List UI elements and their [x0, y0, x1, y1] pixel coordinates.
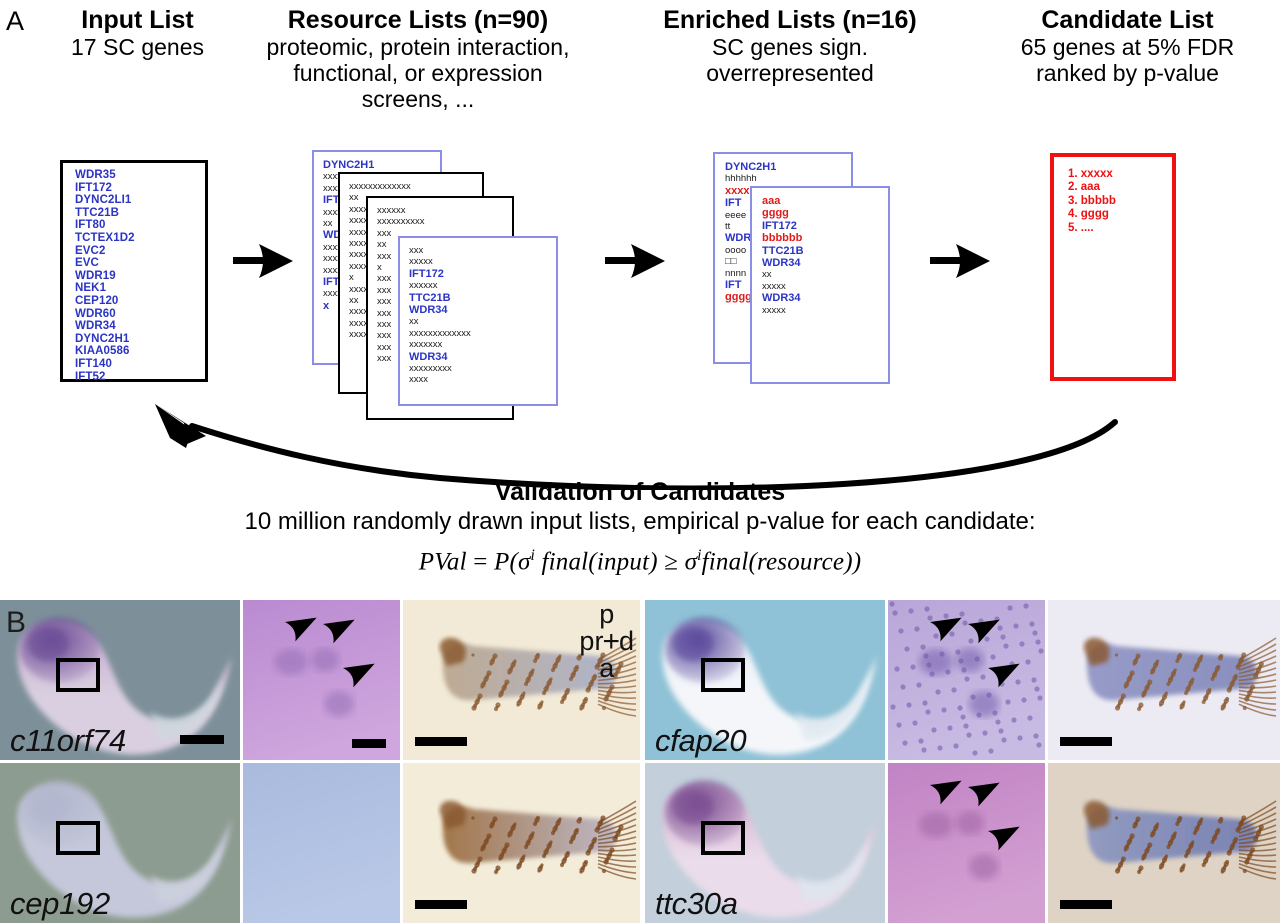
- feedback-arrow-icon: [140, 378, 1150, 490]
- micrograph-explant: ppr+da: [403, 600, 640, 760]
- input-gene-item: DYNC2H1: [75, 333, 205, 346]
- card-highlight-line: aaa: [762, 195, 888, 207]
- micrograph-whole-mount: cfap20: [645, 600, 885, 760]
- card-filler-line: xxxxxxxxxx: [377, 216, 512, 227]
- card-highlight-line: gggg: [762, 207, 888, 219]
- compass-distal: d: [619, 629, 634, 655]
- input-gene-item: CEP120: [75, 295, 205, 308]
- card-gene-line: DYNC2H1: [323, 159, 440, 171]
- micrograph-explant: [1048, 600, 1280, 760]
- card-filler-line: xxxxx: [762, 305, 888, 316]
- card-filler-line: xxxx: [409, 374, 556, 385]
- orientation-compass: ppr+da: [579, 602, 634, 682]
- card-gene-line: WDR34: [409, 351, 556, 363]
- card-filler-line: xxxxxxxxxxxxx: [409, 328, 556, 339]
- compass-anterior: a: [579, 656, 634, 682]
- formula-lhs: PVal: [419, 548, 467, 575]
- column-header-resource-lists: Resource Lists (n=90) proteomic, protein…: [258, 6, 578, 112]
- input-gene-item: EVC2: [75, 245, 205, 258]
- card-filler-line: xxxxxx: [377, 205, 512, 216]
- formula-final-resource: final(resource)): [702, 548, 862, 575]
- panel-a-letter: A: [6, 8, 24, 35]
- scale-bar: [415, 737, 467, 746]
- micrograph-whole-mount: ttc30a: [645, 763, 885, 923]
- card-filler-line: xxxxx: [409, 256, 556, 267]
- enriched-card: aaaggggIFT172bbbbbbTTC21BWDR34xxxxxxxWDR…: [750, 186, 890, 384]
- scale-bar: [180, 735, 224, 744]
- validation-block: Validation of Candidates 10 million rand…: [0, 478, 1280, 576]
- validation-formula: PVal = P(σi final(input) ≥ σifinal(resou…: [0, 547, 1280, 576]
- arrow-right-icon: [930, 242, 992, 280]
- card-filler-line: xx: [409, 316, 556, 327]
- input-gene-item: TCTEX1D2: [75, 232, 205, 245]
- card-gene-line: TTC21B: [409, 292, 556, 304]
- region-of-interest-box: [701, 821, 745, 855]
- panel-b: c11orf74 ppr+da: [0, 600, 1280, 923]
- formula-final-input: final(input): [535, 548, 658, 575]
- micrograph-explant: [403, 763, 640, 923]
- formula-p-open: P(: [494, 548, 518, 575]
- input-gene-item: WDR19: [75, 270, 205, 283]
- enriched-lists-subtitle: SC genes sign. overrepresented: [630, 34, 950, 86]
- card-filler-line: xxxxx: [762, 281, 888, 292]
- panel-a: A Input List 17 SC genes Resource Lists …: [0, 0, 1280, 598]
- micrograph-closeup: [888, 600, 1045, 760]
- gene-name-label: cep192: [10, 888, 110, 921]
- input-gene-item: WDR35: [75, 169, 205, 182]
- input-gene-item: NEK1: [75, 282, 205, 295]
- validation-title: Validation of Candidates: [0, 478, 1280, 507]
- micrograph-explant: [1048, 763, 1280, 923]
- scale-bar: [352, 739, 386, 748]
- candidate-list-title: Candidate List: [985, 6, 1270, 34]
- input-gene-item: KIAA0586: [75, 345, 205, 358]
- gene-name-label: cfap20: [655, 725, 746, 758]
- micrograph-whole-mount: c11orf74: [0, 600, 240, 760]
- formula-geq: ≥: [658, 548, 685, 575]
- input-gene-list-box: WDR35IFT172DYNC2LI1TTC21BIFT80TCTEX1D2EV…: [60, 160, 208, 382]
- input-list-title: Input List: [30, 6, 245, 34]
- region-of-interest-box: [56, 821, 100, 855]
- scale-bar: [1060, 737, 1112, 746]
- input-gene-item: EVC: [75, 257, 205, 270]
- formula-sigma-1: σ: [518, 548, 531, 575]
- resource-lists-title: Resource Lists (n=90): [258, 6, 578, 34]
- enriched-lists-title: Enriched Lists (n=16): [630, 6, 950, 34]
- card-filler-line: xxxxxx: [409, 280, 556, 291]
- card-filler-line: xx: [762, 269, 888, 280]
- card-gene-line: DYNC2H1: [725, 161, 851, 173]
- card-filler-line: hhhhhh: [725, 173, 851, 184]
- validation-subtitle: 10 million randomly drawn input lists, e…: [0, 508, 1280, 536]
- resource-lists-subtitle: proteomic, protein interaction, function…: [258, 34, 578, 112]
- formula-sigma-2: σ: [685, 548, 698, 575]
- candidate-list-item: 2. aaa: [1068, 181, 1172, 194]
- card-gene-line: IFT172: [409, 268, 556, 280]
- candidate-list-item: 4. gggg: [1068, 208, 1172, 221]
- input-gene-item: IFT172: [75, 182, 205, 195]
- card-gene-line: TTC21B: [762, 245, 888, 257]
- formula-equals: =: [473, 548, 487, 575]
- region-of-interest-box: [56, 658, 100, 692]
- gene-name-label: ttc30a: [655, 888, 738, 921]
- card-gene-line: IFT172: [762, 220, 888, 232]
- micrograph-closeup: [243, 763, 400, 923]
- input-gene-item: TTC21B: [75, 207, 205, 220]
- column-header-candidate-list: Candidate List 65 genes at 5% FDR ranked…: [985, 6, 1270, 86]
- micrograph-whole-mount: cep192: [0, 763, 240, 923]
- input-gene-names: WDR35IFT172DYNC2LI1TTC21BIFT80TCTEX1D2EV…: [75, 169, 205, 383]
- card-gene-line: WDR34: [762, 257, 888, 269]
- card-highlight-line: bbbbbb: [762, 232, 888, 244]
- panel-b-letter: B: [6, 608, 26, 638]
- compass-cross-icon: +: [602, 628, 620, 657]
- card-gene-line: WDR34: [409, 304, 556, 316]
- candidate-list-items: 1. xxxxx2. aaa3. bbbbb4. gggg5. ....: [1068, 168, 1172, 235]
- candidate-list-item: 5. ....: [1068, 222, 1172, 235]
- input-gene-item: DYNC2LI1: [75, 194, 205, 207]
- candidate-list-box: 1. xxxxx2. aaa3. bbbbb4. gggg5. ....: [1050, 153, 1176, 381]
- card-filler-line: xxxxxxxxxxxxx: [349, 181, 482, 192]
- micrograph-closeup: [888, 763, 1045, 923]
- input-list-subtitle: 17 SC genes: [30, 34, 245, 60]
- arrow-right-icon: [605, 242, 667, 280]
- micrograph-closeup: [243, 600, 400, 760]
- column-header-input-list: Input List 17 SC genes: [30, 6, 245, 60]
- arrow-right-icon: [233, 242, 295, 280]
- column-header-enriched-lists: Enriched Lists (n=16) SC genes sign. ove…: [630, 6, 950, 86]
- card-gene-line: WDR34: [762, 292, 888, 304]
- candidate-list-item: 1. xxxxx: [1068, 168, 1172, 181]
- candidate-list-subtitle: 65 genes at 5% FDR ranked by p-value: [985, 34, 1270, 86]
- card-filler-line: xxxxxxxxx: [409, 363, 556, 374]
- scale-bar: [1060, 900, 1112, 909]
- input-gene-item: WDR60: [75, 308, 205, 321]
- input-gene-item: IFT140: [75, 358, 205, 371]
- input-gene-item: WDR34: [75, 320, 205, 333]
- region-of-interest-box: [701, 658, 745, 692]
- candidate-list-item: 3. bbbbb: [1068, 195, 1172, 208]
- resource-card: xxxxxxxxIFT172xxxxxxTTC21BWDR34xxxxxxxxx…: [398, 236, 558, 406]
- compass-proximal: pr: [579, 629, 603, 655]
- input-gene-item: IFT80: [75, 219, 205, 232]
- card-filler-line: xxxxxxx: [409, 339, 556, 350]
- compass-posterior: p: [579, 602, 634, 628]
- gene-name-label: c11orf74: [10, 725, 126, 758]
- card-filler-line: xxx: [409, 245, 556, 256]
- scale-bar: [415, 900, 467, 909]
